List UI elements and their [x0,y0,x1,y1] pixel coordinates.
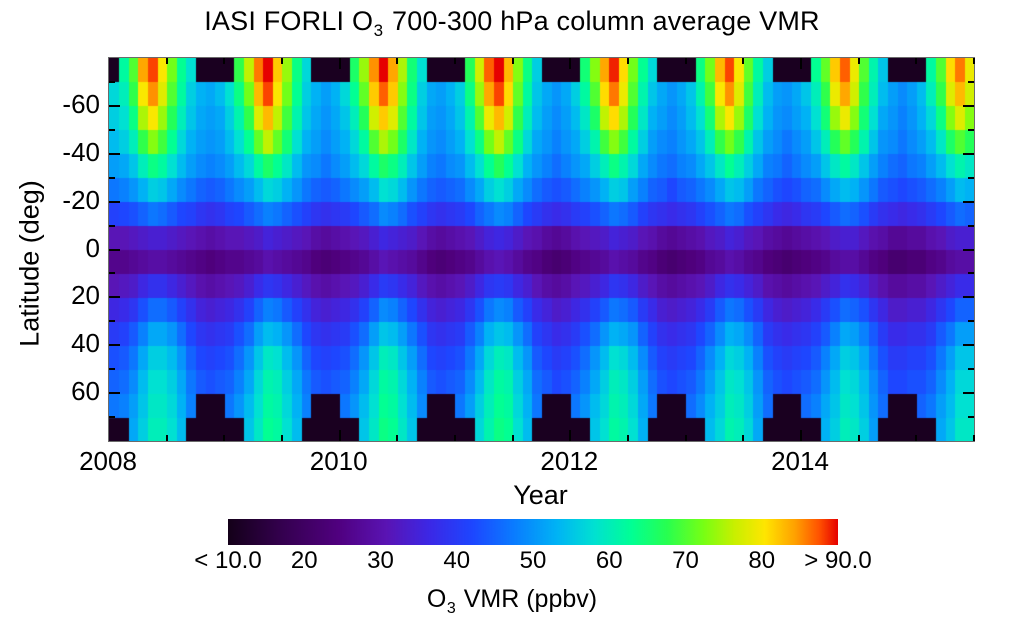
colorbar-tick-label-60: 60 [596,547,623,575]
x-tick-2012 [569,430,571,441]
x-tick-top-2015 [915,58,917,64]
y-tick-right-60 [963,392,974,394]
x-tick-2014 [800,430,802,441]
y-tick-right--70 [968,81,974,83]
y-tick-right-0 [963,249,974,251]
colorbar-title: O3 VMR (ppbv) [0,585,1024,618]
colorbar [228,519,838,545]
y-tick--20 [109,201,120,203]
colorbar-tick-label-40: 40 [443,547,470,575]
x-tick-2011 [454,435,456,441]
y-tick--10 [109,225,115,227]
y-tick-right-10 [968,272,974,274]
x-tick-top-2015.5 [973,58,975,64]
x-tick-2008.5 [166,435,168,441]
y-tick-right-20 [963,296,974,298]
x-tick-2011.5 [512,435,514,441]
x-tick-top-2010.5 [396,58,398,64]
x-tick-2010.5 [396,435,398,441]
x-tick-2010 [339,430,341,441]
x-tick-top-2008.5 [166,58,168,64]
heatmap-plot-area [108,57,975,442]
y-tick-label--60: -60 [62,91,100,117]
x-tick-top-2013.5 [742,58,744,64]
y-tick-10 [109,272,115,274]
x-tick-2009 [223,435,225,441]
y-axis-title: Latitude (deg) [15,94,46,434]
x-tick-top-2014 [800,58,802,69]
x-axis-title: Year [108,480,973,511]
colorbar-tick-label-90: > 90.0 [804,547,871,575]
y-tick-right-70 [968,416,974,418]
colorbar-title-subscript: 3 [447,600,456,617]
title-subscript: 3 [374,21,384,40]
x-tick-top-2012.5 [627,58,629,64]
x-tick-top-2009 [223,58,225,64]
x-tick-top-2011 [454,58,456,64]
y-tick-70 [109,416,115,418]
colorbar-title-text-after-subscript: VMR (ppbv) [457,585,597,613]
y-tick--50 [109,129,115,131]
y-tick-20 [109,296,120,298]
x-tick-2013.5 [742,435,744,441]
x-tick-top-2012 [569,58,571,69]
y-tick-40 [109,344,120,346]
colorbar-gradient [228,519,838,545]
colorbar-tick-label-80: 80 [748,547,775,575]
x-tick-top-2014.5 [858,58,860,64]
colorbar-tick-label-50: 50 [520,547,547,575]
y-tick--40 [109,153,120,155]
y-tick-right--20 [963,201,974,203]
y-tick-right--40 [963,153,974,155]
x-tick-2015 [915,435,917,441]
x-tick-top-2009.5 [281,58,283,64]
colorbar-tick-label-70: 70 [672,547,699,575]
title-text-before-subscript: IASI FORLI O [204,6,373,36]
colorbar-tick-labels: < 10.020304050607080> 90.0 [108,547,973,577]
y-tick-right--50 [968,129,974,131]
y-tick-right-40 [963,344,974,346]
x-tick-label-2014: 2014 [771,446,829,476]
y-tick--60 [109,105,120,107]
y-tick-right--60 [963,105,974,107]
y-tick--70 [109,81,115,83]
y-tick-30 [109,320,115,322]
x-tick-top-2010 [339,58,341,69]
y-tick-label--40: -40 [62,139,100,165]
y-tick-label-20: 20 [71,282,100,308]
colorbar-tick-label-10: < 10.0 [194,547,261,575]
x-tick-top-2011.5 [512,58,514,64]
y-tick-label-0: 0 [86,235,100,261]
x-tick-2013 [685,435,687,441]
y-tick-right--10 [968,225,974,227]
y-tick-label-60: 60 [71,378,100,404]
y-tick-label--20: -20 [62,187,100,213]
x-tick-label-2008: 2008 [79,446,137,476]
y-tick-right-50 [968,368,974,370]
x-tick-2009.5 [281,435,283,441]
colorbar-tick-label-30: 30 [367,547,394,575]
y-tick-50 [109,368,115,370]
y-tick--30 [109,177,115,179]
x-tick-2014.5 [858,435,860,441]
colorbar-title-text-before-subscript: O [427,585,446,613]
page-title: IASI FORLI O3 700-300 hPa column average… [0,6,1024,41]
x-tick-2015.5 [973,435,975,441]
y-tick-right-30 [968,320,974,322]
y-tick-label-40: 40 [71,330,100,356]
title-text-after-subscript: 700-300 hPa column average VMR [384,6,819,36]
x-tick-label-2010: 2010 [310,446,368,476]
x-tick-2012.5 [627,435,629,441]
x-tick-top-2013 [685,58,687,64]
heatmap-canvas [109,58,974,441]
x-tick-label-2012: 2012 [540,446,598,476]
y-tick-0 [109,249,120,251]
y-tick-right--30 [968,177,974,179]
colorbar-tick-label-20: 20 [291,547,318,575]
x-axis-tick-labels: 2008201020122014 [108,446,973,480]
y-tick-60 [109,392,120,394]
